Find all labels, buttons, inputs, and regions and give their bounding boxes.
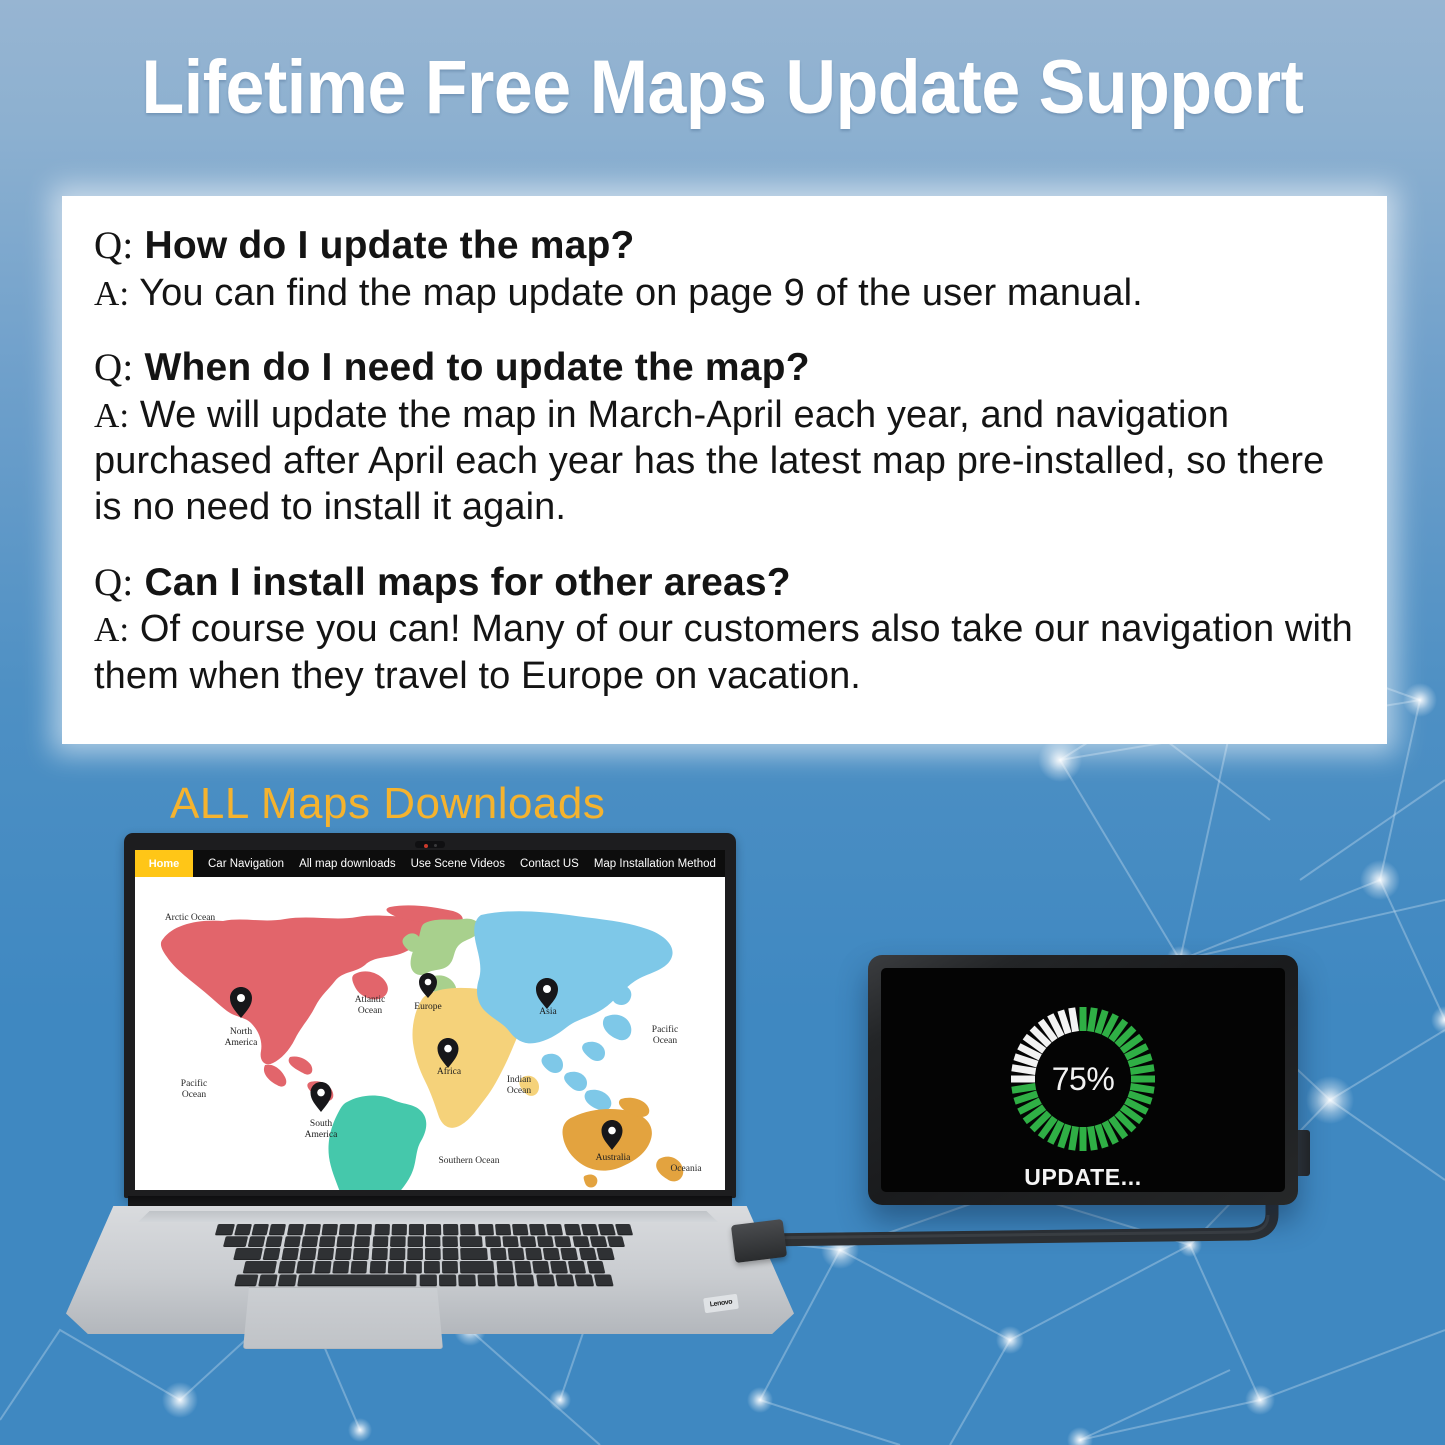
progress-ring: 75% (1006, 1002, 1160, 1161)
faq-answer-row: A: You can find the map update on page 9… (94, 270, 1355, 316)
keyboard-row (120, 1224, 728, 1234)
nav-item-all-map-downloads[interactable]: All map downloads (299, 858, 396, 870)
question-marker: Q: (94, 224, 133, 267)
webcam-indicator-dot (424, 844, 428, 848)
faq-card: Q: How do I update the map? A: You can f… (62, 196, 1387, 744)
nav-item-car-navigation[interactable]: Car Navigation (208, 858, 284, 870)
faq-item: Q: When do I need to update the map? A: … (94, 344, 1355, 531)
keyboard-row (105, 1261, 744, 1272)
faq-question-text: Can I install maps for other areas? (144, 561, 790, 604)
faq-item: Q: Can I install maps for other areas? A… (94, 559, 1355, 699)
update-status-label: UPDATE... (881, 1164, 1285, 1191)
faq-answer-text: You can find the map update on page 9 of… (139, 272, 1143, 314)
nav-item-contact-us[interactable]: Contact US (520, 858, 579, 870)
faq-question-text: When do I need to update the map? (144, 346, 809, 389)
keyboard-row (115, 1236, 733, 1246)
laptop-screen: Home Car Navigation All map downloads Us… (135, 850, 725, 1190)
map-label-southern-ocean: Southern Ocean (419, 1156, 519, 1167)
map-label-australia: Australia (577, 1153, 649, 1164)
map-label-north-america: North America (205, 1027, 277, 1048)
faq-question-row: Q: When do I need to update the map? (94, 344, 1355, 392)
webcam-lens-dot (434, 844, 437, 847)
world-map: Arctic Ocean North America Atlantic Ocea… (135, 877, 725, 1190)
answer-marker: A: (94, 610, 129, 649)
page-title: Lifetime Free Maps Update Support (58, 44, 1387, 131)
laptop-illustration: Home Car Navigation All map downloads Us… (28, 830, 788, 1380)
map-label-oceania: Oceania (656, 1164, 716, 1175)
map-label-south-america: South America (286, 1119, 356, 1140)
faq-question-row: Q: Can I install maps for other areas? (94, 559, 1355, 607)
map-label-africa: Africa (419, 1067, 479, 1078)
faq-question-text: How do I update the map? (144, 224, 634, 267)
car-navigation-device: 75% UPDATE... Aonerex (868, 955, 1298, 1205)
faq-item: Q: How do I update the map? A: You can f… (94, 222, 1355, 316)
question-marker: Q: (94, 346, 133, 389)
keyboard-row (99, 1274, 749, 1285)
keyboard-row (110, 1248, 738, 1259)
usb-plug-laptop-end (731, 1219, 787, 1263)
faq-answer-row: A: We will update the map in March-April… (94, 392, 1355, 531)
laptop-keyboard (101, 1224, 746, 1280)
browser-navbar: Home Car Navigation All map downloads Us… (135, 850, 725, 877)
caption-all-maps-downloads: ALL Maps Downloads (170, 779, 605, 829)
map-label-arctic-ocean: Arctic Ocean (145, 913, 235, 924)
answer-marker: A: (94, 274, 129, 313)
faq-answer-text: Of course you can! Many of our customers… (94, 608, 1353, 696)
map-label-atlantic-ocean: Atlantic Ocean (335, 995, 405, 1016)
progress-percent-label: 75% (1006, 1002, 1160, 1156)
laptop-lid: Home Car Navigation All map downloads Us… (124, 833, 736, 1198)
faq-answer-row: A: Of course you can! Many of our custom… (94, 606, 1355, 699)
question-marker: Q: (94, 561, 133, 604)
nav-item-home[interactable]: Home (135, 850, 193, 877)
answer-marker: A: (94, 396, 129, 435)
usb-cable (700, 1190, 1445, 1310)
device-screen: 75% UPDATE... Aonerex (881, 968, 1285, 1192)
map-label-asia: Asia (518, 1007, 578, 1018)
faq-question-row: Q: How do I update the map? (94, 222, 1355, 270)
laptop-keyboard-deck-strip (138, 1211, 718, 1222)
map-label-europe: Europe (398, 1002, 458, 1013)
map-label-pacific-ocean-right: Pacific Ocean (633, 1025, 697, 1046)
map-label-pacific-ocean-left: Pacific Ocean (161, 1079, 227, 1100)
webcam-icon (415, 841, 445, 848)
faq-answer-text: We will update the map in March-April ea… (94, 394, 1324, 529)
laptop-trackpad[interactable] (243, 1287, 443, 1349)
nav-item-map-installation-method[interactable]: Map Installation Method (594, 858, 716, 870)
map-label-indian-ocean: Indian Ocean (487, 1075, 551, 1096)
nav-item-use-scene-videos[interactable]: Use Scene Videos (411, 858, 505, 870)
